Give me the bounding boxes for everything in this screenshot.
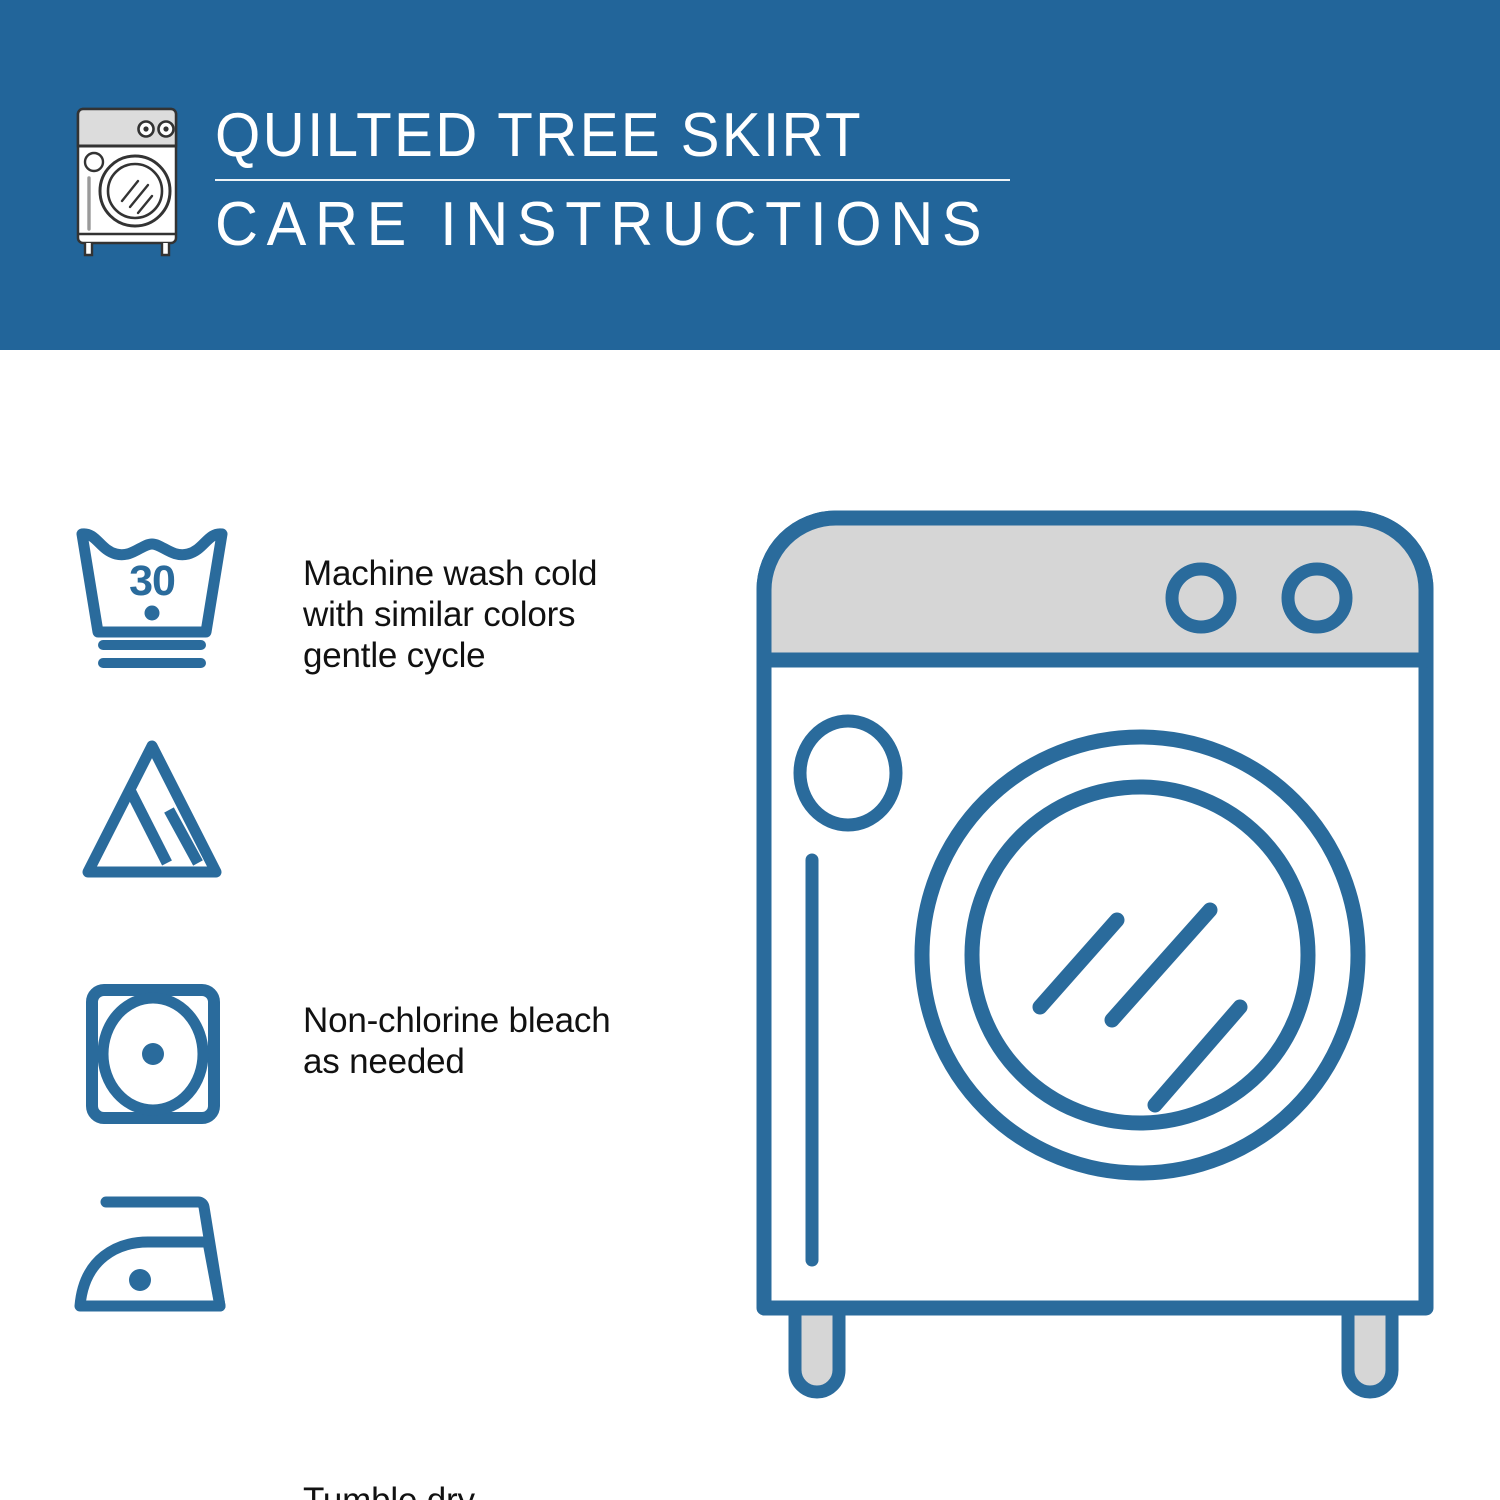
care-line: with similar colors bbox=[303, 594, 597, 635]
care-instructions-page: QUILTED TREE SKIRT CARE INSTRUCTIONS 30 bbox=[0, 0, 1500, 1500]
care-line: Tumble dry bbox=[303, 1480, 475, 1500]
page-title: QUILTED TREE SKIRT bbox=[215, 98, 976, 174]
svg-text:30: 30 bbox=[129, 557, 175, 605]
wash-tub-30-gentle-icon: 30 bbox=[70, 520, 235, 675]
iron-low-heat-icon bbox=[70, 1180, 235, 1335]
header-text-block: QUILTED TREE SKIRT CARE INSTRUCTIONS bbox=[215, 98, 1025, 264]
care-line: as needed bbox=[303, 1041, 611, 1082]
care-text-bleach: Non-chlorine bleach as needed bbox=[303, 1000, 611, 1082]
care-line: Non-chlorine bleach bbox=[303, 1000, 611, 1041]
washing-machine-icon bbox=[62, 103, 192, 263]
care-line: Machine wash cold bbox=[303, 553, 597, 594]
page-subtitle: CARE INSTRUCTIONS bbox=[215, 186, 993, 264]
header-band: QUILTED TREE SKIRT CARE INSTRUCTIONS bbox=[0, 0, 1500, 350]
care-text-machine-wash: Machine wash cold with similar colors ge… bbox=[303, 553, 597, 676]
non-chlorine-bleach-triangle-icon bbox=[70, 732, 235, 887]
care-line: gentle cycle bbox=[303, 635, 597, 676]
care-text-tumble-dry: Tumble dry low heat bbox=[303, 1480, 475, 1500]
tumble-dry-low-heat-icon bbox=[70, 978, 235, 1133]
title-divider bbox=[215, 179, 1010, 181]
front-load-washing-machine-illustration bbox=[740, 495, 1450, 1405]
